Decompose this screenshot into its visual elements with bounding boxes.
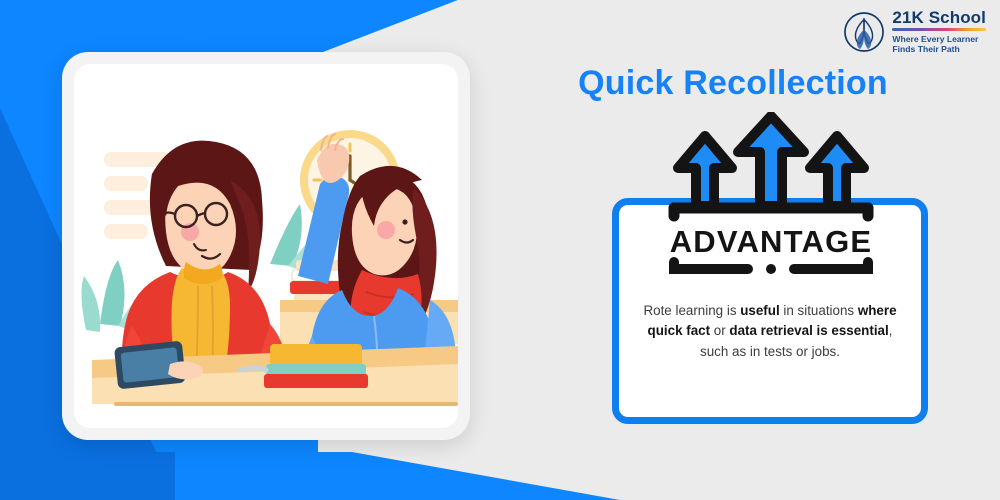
logo-tagline: Where Every Learner Finds Their Path — [892, 34, 986, 55]
advantage-badge: ADVANTAGE — [660, 112, 882, 277]
blue-shape-top-wedge — [0, 0, 458, 54]
logo-name: 21K School — [892, 9, 986, 26]
badge-center-dot — [766, 264, 776, 274]
logo-tagline-line1: Where Every Learner — [892, 34, 986, 44]
info-card-paragraph: Rote learning is useful in situations wh… — [635, 301, 905, 362]
page-title: Quick Recollection — [500, 64, 966, 103]
blue-shape-bottom-left — [0, 452, 175, 500]
up-arrows-icon — [678, 116, 864, 206]
classroom-students-illustration — [74, 64, 458, 428]
floor-line — [114, 402, 458, 406]
arrow-right — [810, 136, 864, 206]
blue-shape-bottom-band — [0, 452, 620, 500]
arrow-center — [738, 116, 804, 206]
advantage-badge-graphic: ADVANTAGE — [660, 112, 882, 277]
brand-logo: 21K School Where Every Learner Finds The… — [843, 9, 986, 54]
illustration-card — [62, 52, 470, 440]
slide-canvas: 21K School Where Every Learner Finds The… — [0, 0, 1000, 500]
arrow-left — [678, 136, 732, 206]
advantage-word: ADVANTAGE — [670, 224, 873, 259]
lotus-circle-icon — [843, 11, 885, 53]
logo-wordmark: 21K School Where Every Learner Finds The… — [892, 9, 986, 54]
logo-tagline-line2: Finds Their Path — [892, 44, 986, 54]
illustration-frame — [74, 64, 458, 428]
desk-books — [264, 344, 368, 388]
logo-gradient-rule — [892, 28, 986, 31]
